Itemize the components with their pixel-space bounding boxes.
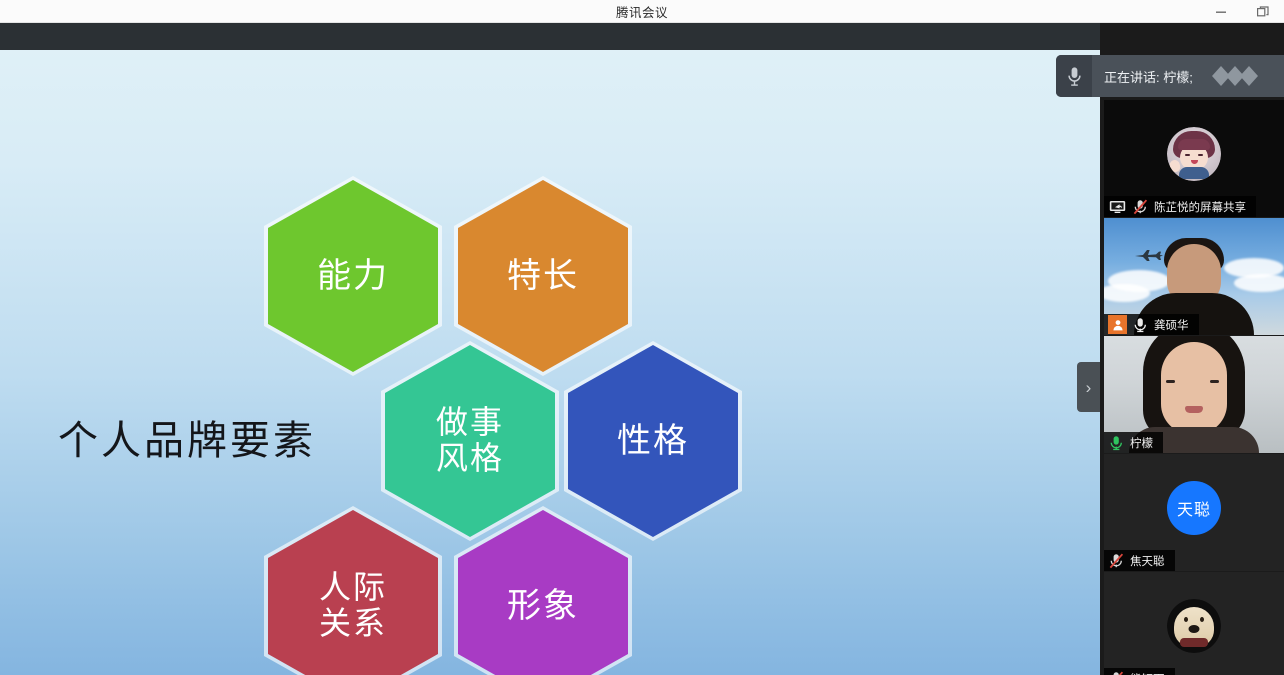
window-controls [1200,0,1284,23]
audio-wave-icon [1209,63,1263,89]
hexagon-work-style-label-line1: 做事 [436,405,504,441]
hexagon-personality[interactable]: 性格 [568,345,738,537]
mic-muted-icon [1132,198,1149,215]
mic-unmuted-icon [1132,316,1149,333]
tencent-meeting-window: 腾讯会议 个人品牌要素 能力 特长 [0,0,1284,675]
avatar: 天聪 [1167,481,1221,535]
participants-sidebar: 正在讲话: 柠檬; [1100,23,1284,675]
participant-tiles: 陈芷悦的屏幕共享 [1100,100,1284,675]
hexagon-image-label: 形象 [507,587,579,625]
tile-participant-name: 熊钰雨 [1130,671,1165,675]
shared-screen-content: 个人品牌要素 能力 特长 做事 风格 性格 人际 关系 形象 [0,50,1100,675]
tile-label: 陈芷悦的屏幕共享 [1104,196,1256,217]
screen-share-icon [1108,198,1127,215]
tile-label: 焦天聪 [1104,550,1175,571]
slide-title: 个人品牌要素 [58,408,316,466]
active-speaker-banner: 正在讲话: 柠檬; [1056,55,1284,97]
participant-tile-active-speaker[interactable]: 柠檬 [1104,336,1284,453]
avatar-initials: 天聪 [1177,496,1211,520]
tile-participant-name: 柠檬 [1130,435,1153,451]
hexagon-specialty[interactable]: 特长 [458,180,628,372]
tile-participant-name: 焦天聪 [1130,553,1165,569]
participant-tile-photo-avatar[interactable]: 熊钰雨 [1104,572,1284,675]
dog-photo-avatar [1167,599,1221,653]
title-bar: 腾讯会议 [0,0,1284,23]
collapse-sidebar-button[interactable]: › [1077,362,1100,412]
chevron-right-icon: › [1086,379,1092,396]
active-speaker-text: 正在讲话: 柠檬; [1104,67,1193,86]
avatar [1167,599,1221,653]
hexagon-specialty-label: 特长 [507,257,579,295]
participant-tile-initials-avatar[interactable]: 天聪 焦天聪 [1104,454,1284,571]
hexagon-ability[interactable]: 能力 [268,180,438,372]
host-badge-icon [1108,315,1127,334]
hexagon-relationship[interactable]: 人际 关系 [268,510,438,675]
avatar [1167,127,1221,181]
mic-speaking-icon [1108,434,1125,451]
hexagon-image[interactable]: 形象 [458,510,628,675]
hexagon-work-style[interactable]: 做事 风格 [385,345,555,537]
hexagon-work-style-label-line2: 风格 [436,441,504,477]
minimize-button[interactable] [1200,0,1242,23]
restore-button[interactable] [1242,0,1284,23]
hexagon-relationship-label-line2: 关系 [319,606,387,642]
airplane-icon [1134,248,1164,266]
participant-tile-host-video[interactable]: 龚硕华 [1104,218,1284,335]
tile-label: 柠檬 [1104,432,1163,453]
meeting-toolbar-band [0,23,1284,50]
tile-label: 龚硕华 [1104,314,1199,335]
hexagon-relationship-label-line1: 人际 [319,570,387,606]
participant-tile-screen-share[interactable]: 陈芷悦的屏幕共享 [1104,100,1284,217]
mic-muted-icon [1108,552,1125,569]
anime-avatar [1167,127,1221,181]
tile-label: 熊钰雨 [1104,668,1175,675]
tile-participant-name: 陈芷悦的屏幕共享 [1154,199,1246,215]
tile-participant-name: 龚硕华 [1154,317,1189,333]
hexagon-personality-label: 性格 [617,422,689,460]
hexagon-ability-label: 能力 [317,257,389,295]
microphone-icon [1056,55,1092,97]
window-title: 腾讯会议 [616,2,668,21]
active-speaker-body: 正在讲话: 柠檬; [1092,55,1284,97]
mic-muted-icon [1108,670,1125,675]
